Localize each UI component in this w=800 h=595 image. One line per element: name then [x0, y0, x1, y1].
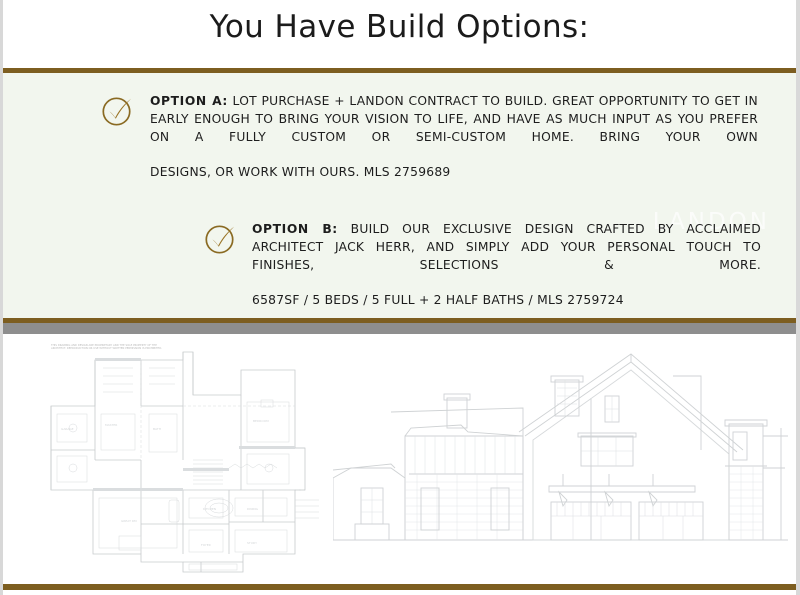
page-title: You Have Build Options:	[3, 9, 796, 45]
drawings-area: THIS DRAWING AND DESIGN ARE PROPRIETARY …	[3, 334, 796, 584]
svg-text:BEDROOM: BEDROOM	[253, 419, 269, 423]
elevation-drawing	[333, 340, 788, 552]
svg-text:GREAT RM: GREAT RM	[121, 519, 137, 523]
gray-separator-band	[3, 323, 796, 334]
header: You Have Build Options:	[3, 0, 796, 68]
option-a-row: OPTION A: LOT PURCHASE + LANDON CONTRACT…	[98, 93, 758, 182]
floor-plan-note: THIS DRAWING AND DESIGN ARE PROPRIETARY …	[51, 344, 171, 351]
svg-text:BATH: BATH	[153, 427, 161, 431]
check-circle-icon	[98, 90, 138, 130]
divider-bottom	[3, 584, 796, 590]
option-b-text: OPTION B: BUILD OUR EXCLUSIVE DESIGN CRA…	[252, 221, 761, 310]
svg-text:GARAGE: GARAGE	[61, 427, 74, 431]
option-b-label: OPTION B:	[252, 222, 338, 236]
svg-text:KITCHEN: KITCHEN	[203, 507, 216, 511]
floor-plan-drawing: THIS DRAWING AND DESIGN ARE PROPRIETARY …	[33, 340, 323, 578]
svg-text:MASTER: MASTER	[105, 423, 117, 427]
option-a-body: LOT PURCHASE + LANDON CONTRACT TO BUILD.…	[150, 94, 758, 144]
option-a-label: OPTION A:	[150, 94, 228, 108]
right-edge-border	[796, 0, 800, 595]
svg-text:DINING: DINING	[247, 507, 259, 511]
marketing-slide: You Have Build Options: LANDON OPTION A:…	[0, 0, 800, 595]
option-a-last-line: DESIGNS, OR WORK WITH OURS. MLS 2759689	[150, 164, 758, 182]
svg-text:STUDY: STUDY	[247, 541, 257, 545]
option-a-text: OPTION A: LOT PURCHASE + LANDON CONTRACT…	[150, 93, 758, 182]
check-circle-icon	[201, 218, 241, 258]
svg-text:FOYER: FOYER	[201, 543, 211, 547]
option-b-last-line: 6587SF / 5 BEDS / 5 FULL + 2 HALF BATHS …	[252, 292, 761, 310]
option-b-row: OPTION B: BUILD OUR EXCLUSIVE DESIGN CRA…	[201, 221, 761, 310]
options-panel: LANDON OPTION A: LOT PURCHASE + LANDON C…	[3, 73, 796, 318]
